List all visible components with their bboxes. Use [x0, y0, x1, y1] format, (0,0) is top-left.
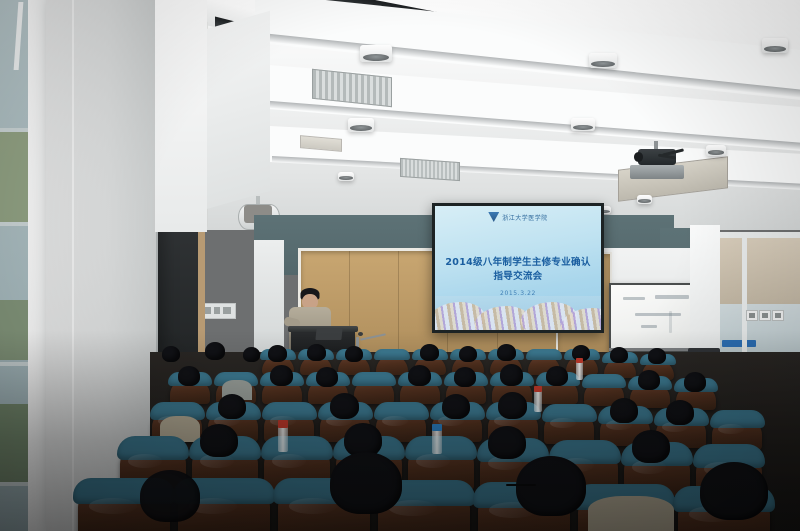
audience-head	[420, 344, 439, 361]
microphone-head-icon	[358, 332, 363, 336]
window-glass-panel	[0, 0, 30, 531]
audience-head	[178, 366, 200, 386]
seat	[354, 372, 394, 404]
audience-head	[270, 365, 293, 386]
downlight-7	[338, 172, 354, 181]
wall-sign	[200, 303, 236, 319]
power-outlet-3	[772, 310, 784, 321]
audience-head	[610, 398, 638, 423]
seat	[544, 404, 594, 444]
audience-head	[648, 348, 666, 364]
downlight-1	[360, 45, 392, 62]
downlight-2	[348, 118, 374, 132]
downlight-6	[706, 145, 726, 156]
lecture-hall-photo: 浙江大学医学院 2014级八年制学生主修专业确认 指导交流会 2015.3.22	[0, 0, 800, 531]
audience-head	[205, 342, 225, 360]
audience-head	[638, 370, 660, 390]
window-head-rail	[716, 232, 800, 238]
audience-head	[307, 344, 326, 361]
audience-head	[200, 424, 238, 457]
audience-head-foreground	[330, 452, 402, 514]
logo-text: 浙江大学医学院	[502, 213, 548, 222]
water-bottle	[432, 424, 442, 454]
audience-head	[316, 367, 338, 387]
audience-head	[454, 367, 476, 387]
audience-head	[218, 394, 246, 419]
audience-head	[498, 392, 527, 419]
slide-title-line2: 指导交流会	[435, 268, 601, 282]
downlight-8	[637, 195, 652, 204]
audience-head	[632, 430, 670, 463]
audience-head	[500, 364, 523, 386]
audience-head	[666, 400, 694, 425]
power-outlet-2	[759, 310, 771, 321]
audience-head	[408, 365, 431, 386]
audience-head	[243, 347, 260, 362]
audience-head	[546, 366, 568, 386]
projection-screen: 浙江大学医学院 2014级八年制学生主修专业确认 指导交流会 2015.3.22	[432, 203, 604, 333]
audience-head	[497, 344, 516, 361]
water-bottle	[278, 420, 288, 452]
slide-content: 浙江大学医学院 2014级八年制学生主修专业确认 指导交流会 2015.3.22	[435, 206, 601, 330]
audience-head	[330, 393, 359, 419]
ceiling-projector-icon	[628, 141, 686, 179]
audience-head-foreground	[516, 456, 586, 516]
audience-shoulder-foreground	[588, 496, 674, 531]
audience-head	[684, 372, 706, 392]
audience-head	[442, 394, 470, 419]
left-upper-wall	[155, 0, 207, 232]
logo-mark-icon	[488, 212, 499, 222]
audience-head	[162, 346, 180, 362]
water-bottle	[576, 358, 583, 380]
power-outlet-1	[746, 310, 758, 321]
downlight-5	[762, 38, 788, 53]
eyeglasses	[506, 484, 536, 486]
university-logo: 浙江大学医学院	[488, 212, 548, 222]
audience-head-foreground	[700, 462, 768, 520]
front-wall-white-left	[254, 240, 284, 360]
audience-head	[488, 426, 526, 459]
audience-head	[610, 347, 628, 363]
downlight-4	[589, 53, 617, 68]
audience-head	[268, 345, 287, 362]
slide-title-line1: 2014级八年制学生主修专业确认	[435, 254, 601, 268]
slide-dna-graphic	[435, 296, 601, 330]
downlight-3	[571, 118, 595, 131]
laptop	[315, 328, 342, 340]
audience-head-foreground	[140, 470, 200, 522]
audience-head	[459, 346, 477, 362]
water-bottle	[534, 386, 542, 412]
audience-head	[345, 346, 363, 362]
